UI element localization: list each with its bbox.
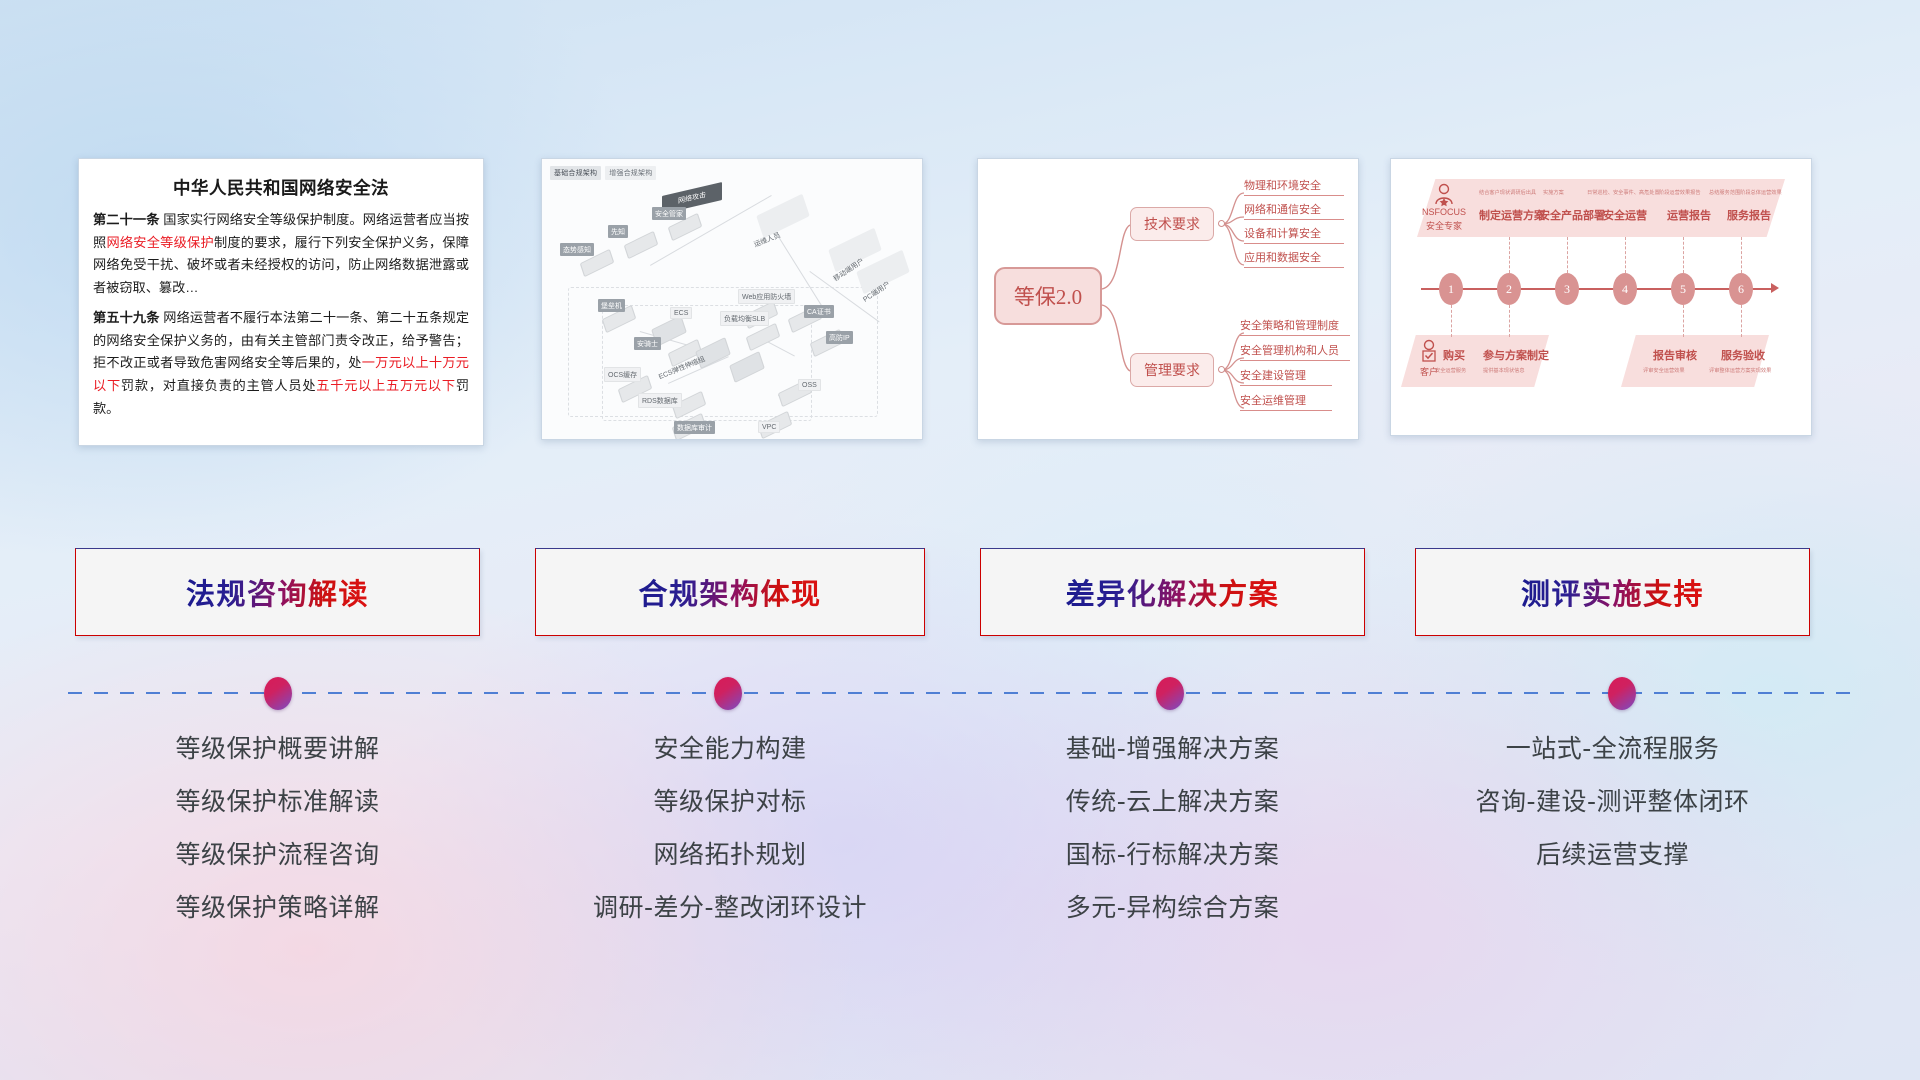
architecture-box-xianzhi [626, 237, 656, 253]
roadmap-connector-c2 [1509, 305, 1510, 337]
mindmap-branch-management[interactable]: 管理要求 [1130, 353, 1214, 387]
roadmap-connector-c3 [1683, 305, 1684, 337]
roadmap-customer-title-4: 服务验收 [1721, 347, 1765, 363]
section-items-row: 等级保护概要讲解 等级保护标准解读 等级保护流程咨询 等级保护策略详解 安全能力… [0, 736, 1920, 986]
architecture-label-5: 安骑士 [634, 337, 661, 350]
architecture-label-2: 安全管家 [652, 207, 686, 220]
mindmap-leaf-t2[interactable]: 设备和计算安全 [1244, 225, 1344, 244]
mindmap-leaf-t0[interactable]: 物理和环境安全 [1244, 177, 1344, 196]
timeline-dot-1[interactable] [264, 677, 292, 710]
roadmap-expert-label-line1: NSFOCUS [1413, 207, 1475, 217]
list-item: 国标-行标解决方案 [980, 842, 1365, 867]
list-item: 等级保护策略详解 [75, 895, 480, 920]
mindmap-collapse-icon-management[interactable] [1218, 366, 1225, 373]
architecture-label-7: RDS数据库 [638, 393, 682, 408]
law-article-21-label: 第二十一条 [93, 212, 160, 227]
architecture-label-0: 态势感知 [560, 243, 594, 256]
mindmap-leaf-m2[interactable]: 安全建设管理 [1240, 367, 1332, 386]
roadmap-step-node-4[interactable]: 4 [1613, 273, 1637, 305]
roadmap-step-node-3[interactable]: 3 [1555, 273, 1579, 305]
law-preview-card[interactable]: 中华人民共和国网络安全法 第二十一条 国家实行网络安全等级保护制度。网络运营者应… [78, 158, 484, 446]
roadmap-step-node-5[interactable]: 5 [1671, 273, 1695, 305]
architecture-box-bastion [604, 311, 634, 327]
timeline [68, 692, 1853, 694]
mindmap-diagram: 等保2.0 技术要求 管理要求 物理和环境安全 网络和通信安全 设备和计算安全 … [978, 159, 1358, 439]
section-title-label-3: 差异化解决方案 [1066, 571, 1280, 613]
architecture-label-8: 数据库审计 [674, 421, 715, 434]
roadmap-step-title-2: 制定运营方案 [1479, 207, 1545, 223]
architecture-tab-enhanced[interactable]: 增强合规架构 [605, 166, 656, 180]
architecture-diagram: 基础合规架构 增强合规架构 网络攻击 [542, 159, 922, 439]
mindmap-root-node[interactable]: 等保2.0 [994, 267, 1102, 325]
roadmap-step-sub-4: 日常巡检、安全事件、高危处置 [1587, 189, 1660, 196]
list-item: 等级保护流程咨询 [75, 842, 480, 867]
section-titles-row: 法规咨询解读 合规架构体现 差异化解决方案 测评实施支持 [0, 548, 1920, 648]
architecture-label-13: 高防IP [826, 331, 853, 344]
section-title-box-4[interactable]: 测评实施支持 [1415, 548, 1810, 636]
roadmap-connector-3 [1567, 237, 1568, 273]
roadmap-step-node-6[interactable]: 6 [1729, 273, 1753, 305]
architecture-label-15: VPC [758, 421, 780, 433]
roadmap-connector-c4 [1741, 305, 1742, 337]
mindmap-preview-card[interactable]: 等保2.0 技术要求 管理要求 物理和环境安全 网络和通信安全 设备和计算安全 … [977, 158, 1359, 440]
list-item: 等级保护概要讲解 [75, 736, 480, 761]
mindmap-branch-technical[interactable]: 技术要求 [1130, 207, 1214, 241]
architecture-label-10: Web应用防火墙 [738, 289, 795, 304]
mindmap-leaf-m1[interactable]: 安全管理机构和人员 [1240, 342, 1350, 361]
roadmap-customer-sub-1: 安全运营服务 [1435, 367, 1466, 374]
roadmap-connector-5 [1683, 237, 1684, 273]
law-article-59: 第五十九条 网络运营者不履行本法第二十一条、第二十五条规定的网络安全保护义务的，… [93, 307, 469, 421]
roadmap-step-node-2[interactable]: 2 [1497, 273, 1521, 305]
section-title-box-1[interactable]: 法规咨询解读 [75, 548, 480, 636]
list-item: 多元-异构综合方案 [980, 895, 1365, 920]
law-article-59-label: 第五十九条 [93, 310, 160, 325]
section-title-label-2: 合规架构体现 [638, 571, 821, 613]
mindmap-leaf-m3[interactable]: 安全运维管理 [1240, 392, 1332, 411]
roadmap-customer-title-2: 参与方案制定 [1483, 347, 1549, 363]
law-article-21-seg-1: 网络安全等级保护 [106, 235, 214, 250]
roadmap-customer-title-1: 购买 [1443, 347, 1465, 363]
roadmap-step-title-4: 安全运营 [1603, 207, 1647, 223]
architecture-label-12: CA证书 [804, 305, 834, 318]
architecture-box-slb [748, 329, 778, 345]
roadmap-customer-title-3: 报告审核 [1653, 347, 1697, 363]
architecture-box-scale-2 [732, 357, 762, 377]
roadmap-axis-arrow-icon [1771, 283, 1779, 293]
section-title-label-4: 测评实施支持 [1521, 571, 1704, 613]
preview-cards-row: 中华人民共和国网络安全法 第二十一条 国家实行网络安全等级保护制度。网络运营者应… [0, 158, 1920, 448]
roadmap-step-title-3: 安全产品部署 [1539, 207, 1605, 223]
architecture-label-3: 堡垒机 [598, 299, 625, 312]
list-item: 网络拓扑规划 [535, 842, 925, 867]
roadmap-customer-sub-4: 评审整体运营方案实现效果 [1709, 367, 1771, 374]
timeline-dot-4[interactable] [1608, 677, 1636, 710]
architecture-preview-card[interactable]: 基础合规架构 增强合规架构 网络攻击 [541, 158, 923, 440]
timeline-dot-2[interactable] [714, 677, 742, 710]
list-item: 咨询-建设-测评整体闭环 [1415, 789, 1810, 814]
list-item: 基础-增强解决方案 [980, 736, 1365, 761]
roadmap-customer-sub-3: 评审安全运营效果 [1643, 367, 1685, 374]
section-title-box-3[interactable]: 差异化解决方案 [980, 548, 1365, 636]
section-title-box-2[interactable]: 合规架构体现 [535, 548, 925, 636]
roadmap-step-sub-2: 结合客户现状调研后出具 [1479, 189, 1536, 196]
roadmap-expert-label-line2: 安全专家 [1413, 219, 1475, 232]
architecture-tabs: 基础合规架构 增强合规架构 [550, 166, 656, 180]
section-items-column-4: 一站式-全流程服务 咨询-建设-测评整体闭环 后续运营支撑 [1415, 736, 1810, 895]
roadmap-connector-c1 [1451, 305, 1452, 337]
list-item: 等级保护对标 [535, 789, 925, 814]
roadmap-step-sub-5: 阶段运营效果报告 [1659, 189, 1701, 196]
architecture-box-steward [670, 219, 700, 235]
mindmap-leaf-m0[interactable]: 安全策略和管理制度 [1240, 317, 1350, 336]
architecture-plate-ops [760, 203, 806, 229]
list-item: 安全能力构建 [535, 736, 925, 761]
roadmap-step-node-1[interactable]: 1 [1439, 273, 1463, 305]
roadmap-preview-card[interactable]: NSFOCUS 安全专家 客户 1 2 3 4 5 6 [1390, 158, 1812, 436]
mindmap-leaf-t1[interactable]: 网络和通信安全 [1244, 201, 1344, 220]
law-article-21: 第二十一条 国家实行网络安全等级保护制度。网络运营者应当按照网络安全等级保护制度… [93, 209, 469, 300]
architecture-label-4: ECS [670, 307, 692, 319]
architecture-tab-basic[interactable]: 基础合规架构 [550, 166, 601, 180]
list-item: 一站式-全流程服务 [1415, 736, 1810, 761]
timeline-dot-3[interactable] [1156, 677, 1184, 710]
roadmap-step-sub-3: 实施方案 [1543, 189, 1564, 196]
architecture-label-14: OSS [798, 379, 821, 391]
law-card-title: 中华人民共和国网络安全法 [79, 175, 483, 200]
roadmap-connector-6 [1741, 237, 1742, 273]
architecture-label-11: 负载均衡SLB [720, 311, 769, 326]
section-items-column-2: 安全能力构建 等级保护对标 网络拓扑规划 调研-差分-整改闭环设计 [535, 736, 925, 948]
customer-person-icon [1419, 339, 1439, 365]
architecture-box-situational [582, 255, 612, 271]
list-item: 调研-差分-整改闭环设计 [535, 895, 925, 920]
roadmap-connector-2 [1509, 237, 1510, 273]
law-article-59-seg-2: 罚款，对直接负责的主管人员处 [121, 378, 316, 393]
section-title-label-1: 法规咨询解读 [186, 571, 369, 613]
roadmap-step-sub-6: 总结服务范围阶段总体运营效果 [1709, 189, 1782, 196]
architecture-label-1: 先知 [608, 225, 628, 238]
section-items-column-1: 等级保护概要讲解 等级保护标准解读 等级保护流程咨询 等级保护策略详解 [75, 736, 480, 948]
roadmap-connector-4 [1625, 237, 1626, 273]
roadmap-step-title-5: 运营报告 [1667, 207, 1711, 223]
mindmap-collapse-icon-technical[interactable] [1218, 220, 1225, 227]
section-items-column-3: 基础-增强解决方案 传统-云上解决方案 国标-行标解决方案 多元-异构综合方案 [980, 736, 1365, 948]
roadmap-axis-line [1421, 288, 1773, 290]
law-article-59-seg-3: 五千元以上五万元以下 [316, 378, 456, 393]
architecture-label-6: OCS缓存 [604, 367, 641, 382]
list-item: 后续运营支撑 [1415, 842, 1810, 867]
mindmap-leaf-t3[interactable]: 应用和数据安全 [1244, 249, 1344, 268]
roadmap-diagram: NSFOCUS 安全专家 客户 1 2 3 4 5 6 [1391, 159, 1811, 435]
expert-person-icon [1433, 183, 1455, 207]
list-item: 传统-云上解决方案 [980, 789, 1365, 814]
timeline-dashed-line [68, 692, 1853, 694]
roadmap-step-title-6: 服务报告 [1727, 207, 1771, 223]
list-item: 等级保护标准解读 [75, 789, 480, 814]
roadmap-customer-sub-2: 提供基本现状信息 [1483, 367, 1525, 374]
